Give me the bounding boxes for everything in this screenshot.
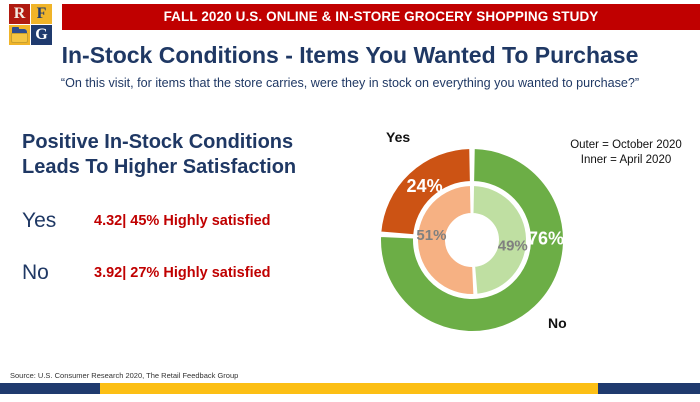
stat-row-yes: Yes 4.32| 45% Highly satisfied <box>22 206 342 236</box>
footer-bar <box>0 383 700 394</box>
stat-label-no: No <box>22 258 84 288</box>
rfg-logo: R F G <box>9 4 53 46</box>
left-headline-line1: Positive In-Stock Conditions <box>22 130 332 155</box>
stat-row-no: No 3.92| 27% Highly satisfied <box>22 258 342 288</box>
footer-bar-segment-middle <box>100 383 598 394</box>
page-subtitle: “On this visit, for items that the store… <box>0 76 700 90</box>
stat-value-yes: 4.32| 45% Highly satisfied <box>94 206 271 236</box>
logo-letter-r: R <box>9 4 30 24</box>
stat-label-yes: Yes <box>22 206 84 236</box>
legend-line-outer: Outer = October 2020 <box>556 138 696 153</box>
donut-label-outer-no: 24% <box>407 176 443 196</box>
left-headline-line2: Leads To Higher Satisfaction <box>22 155 332 180</box>
legend-line-inner: Inner = April 2020 <box>556 153 696 168</box>
chart-legend: Outer = October 2020 Inner = April 2020 <box>556 138 696 168</box>
donut-label-outer-yes: 76% <box>528 228 564 248</box>
logo-letter-f: F <box>31 4 52 24</box>
source-note: Source: U.S. Consumer Research 2020, The… <box>10 371 238 380</box>
donut-label-inner-no: 51% <box>416 227 446 244</box>
left-headline: Positive In-Stock Conditions Leads To Hi… <box>22 130 332 180</box>
page-title: In-Stock Conditions - Items You Wanted T… <box>0 42 700 69</box>
footer-bar-segment-right <box>598 383 700 394</box>
chart-label-no: No <box>548 315 567 331</box>
donut-chart-svg: 76%24%49%51% <box>372 140 572 340</box>
slide-canvas: FALL 2020 U.S. ONLINE & IN-STORE GROCERY… <box>0 0 700 402</box>
stat-value-no: 3.92| 27% Highly satisfied <box>94 258 271 288</box>
nested-donut-chart: 76%24%49%51% <box>372 140 572 340</box>
chart-label-yes: Yes <box>386 129 410 145</box>
donut-center-hole <box>446 214 498 266</box>
donut-label-inner-yes: 49% <box>498 237 528 254</box>
footer-bar-segment-left <box>0 383 100 394</box>
header-banner-title: FALL 2020 U.S. ONLINE & IN-STORE GROCERY… <box>62 4 700 30</box>
